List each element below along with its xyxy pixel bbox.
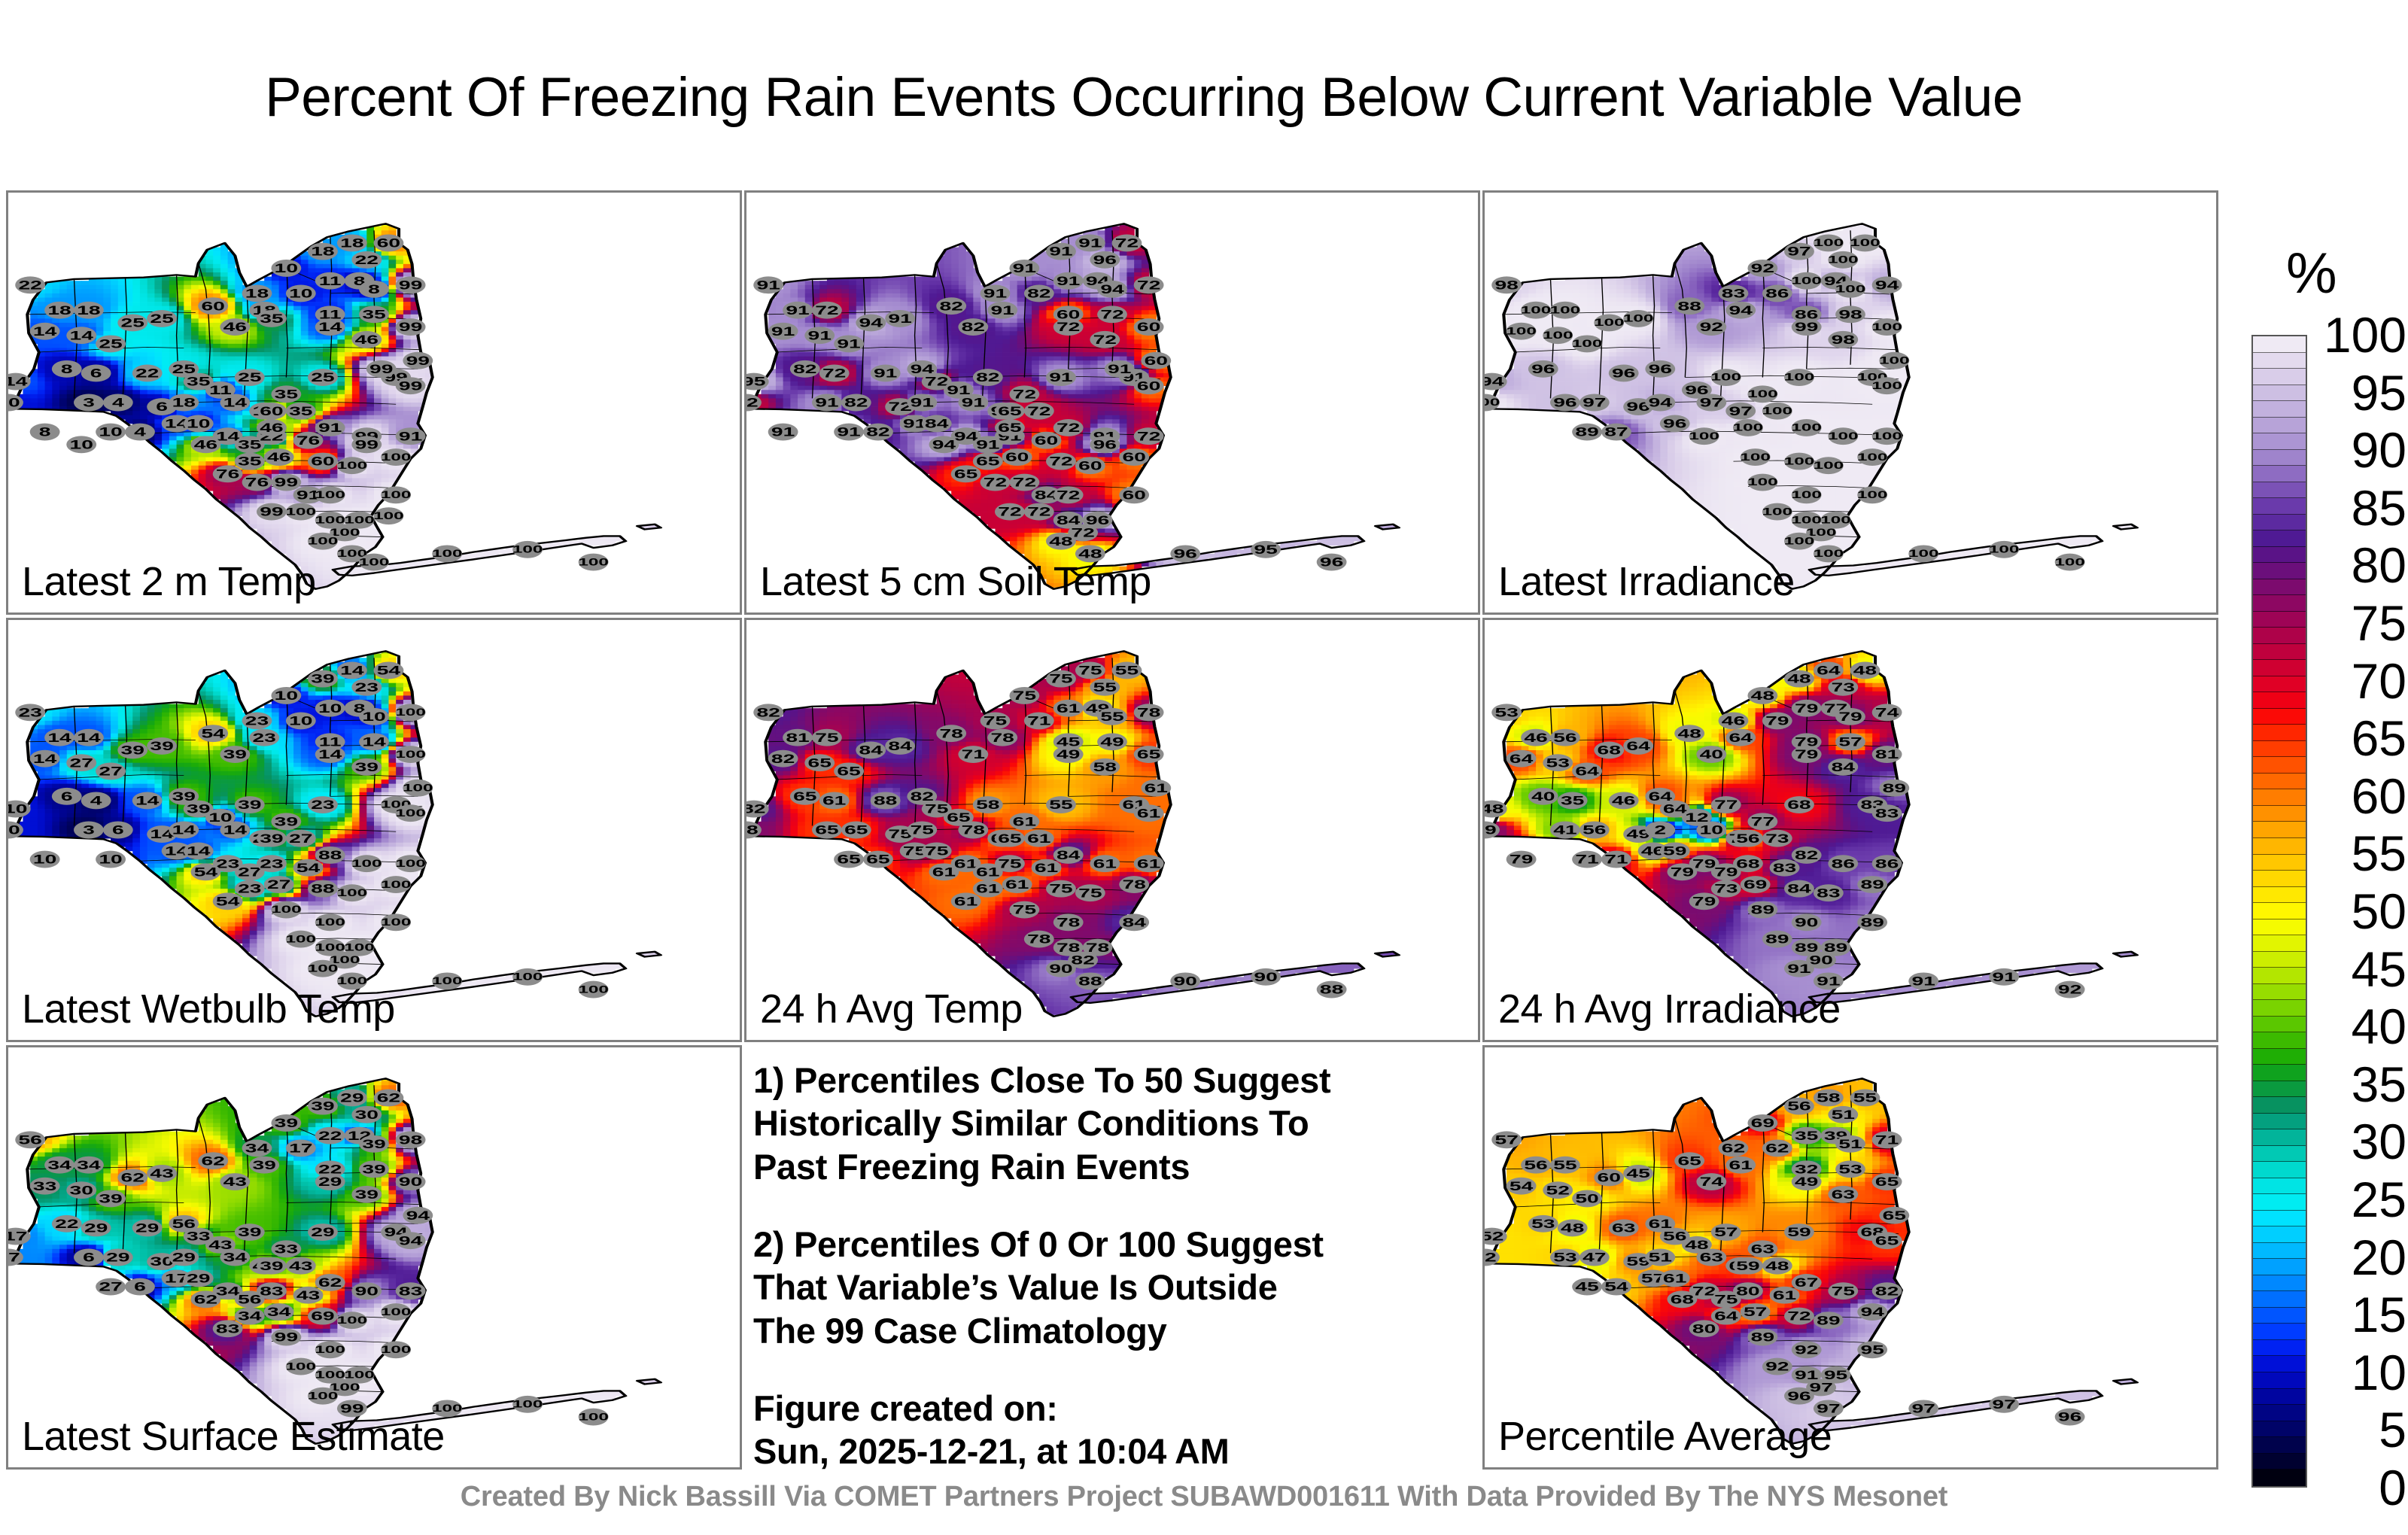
station-marker[interactable]: 64 [1572, 762, 1602, 780]
station-marker[interactable]: 97 [1989, 1396, 2019, 1413]
station-marker[interactable]: 39 [359, 1160, 389, 1178]
station-marker[interactable]: 100 [308, 533, 339, 550]
station-marker[interactable]: 69 [308, 1308, 338, 1325]
station-marker[interactable]: 48 [1485, 801, 1507, 818]
station-marker[interactable]: 90 [1046, 960, 1076, 977]
station-marker[interactable]: 96 [1550, 394, 1580, 412]
station-marker[interactable]: 96 [1609, 365, 1639, 382]
station-marker[interactable]: 91 [1075, 235, 1105, 252]
station-marker[interactable]: 75 [995, 855, 1025, 872]
station-marker[interactable]: 91 [768, 323, 798, 340]
station-marker[interactable]: 100 [1857, 448, 1888, 466]
station-marker[interactable]: 100 [1747, 385, 1778, 403]
station-marker[interactable]: 72 [1024, 403, 1054, 420]
station-marker[interactable]: 61 [1660, 1269, 1690, 1287]
station-marker[interactable]: 88 [315, 847, 345, 864]
station-marker[interactable]: 14 [315, 746, 345, 763]
station-marker[interactable]: 89 [1572, 424, 1602, 441]
station-marker[interactable]: 71 [958, 746, 988, 763]
station-marker[interactable]: 91 [987, 302, 1017, 319]
station-marker[interactable]: 54 [1601, 1278, 1631, 1296]
station-marker[interactable]: 78 [958, 822, 988, 839]
station-marker[interactable]: 10 [96, 851, 126, 868]
station-marker[interactable]: 56 [1550, 729, 1580, 746]
station-marker[interactable]: 100 [381, 913, 412, 931]
station-marker[interactable]: 61 [1134, 804, 1164, 822]
station-marker[interactable]: 55 [1090, 679, 1120, 696]
map-panel-percentile-average[interactable]: 5756555452506045534852525347455459636156… [1482, 1045, 2218, 1470]
station-marker[interactable]: 79 [1689, 892, 1719, 910]
station-marker[interactable]: 100 [1594, 315, 1625, 332]
station-marker[interactable]: 76 [242, 474, 272, 491]
station-marker[interactable]: 86 [1762, 284, 1792, 302]
station-marker[interactable]: 14 [220, 394, 250, 412]
station-marker[interactable]: 10 [66, 436, 96, 453]
station-marker[interactable]: 82 [863, 424, 893, 441]
station-marker[interactable]: 18 [44, 302, 74, 319]
station-marker[interactable]: 62 [191, 1290, 221, 1308]
station-marker[interactable]: 49 [1097, 733, 1127, 750]
station-marker[interactable]: 89 [1857, 913, 1887, 931]
station-marker[interactable]: 100 [2054, 554, 2085, 571]
station-marker[interactable]: 35 [359, 305, 389, 323]
station-marker[interactable]: 91 [1908, 972, 1938, 989]
station-marker[interactable]: 75 [1075, 884, 1105, 901]
station-marker[interactable]: 100 [578, 1409, 609, 1426]
station-marker[interactable]: 10 [96, 424, 126, 441]
station-marker[interactable]: 56 [15, 1131, 45, 1148]
station-marker[interactable]: 72 [1053, 486, 1084, 503]
station-marker[interactable]: 89 [1747, 901, 1777, 919]
station-marker[interactable]: 82 [841, 394, 871, 412]
station-marker[interactable]: 45 [1623, 1165, 1653, 1182]
station-marker[interactable]: 61 [819, 792, 850, 810]
station-marker[interactable]: 68 [1784, 796, 1814, 813]
station-marker[interactable]: 60 [198, 297, 228, 315]
station-marker[interactable]: 56 [1784, 1098, 1814, 1115]
station-marker[interactable]: 75 [981, 712, 1011, 729]
station-marker[interactable]: 98 [396, 1131, 426, 1148]
station-marker[interactable]: 23 [249, 729, 279, 746]
station-marker[interactable]: 39 [257, 830, 287, 847]
station-marker[interactable]: 46 [1719, 712, 1749, 729]
station-marker[interactable]: 61 [1002, 876, 1032, 893]
station-marker[interactable]: 10 [271, 687, 301, 704]
station-marker[interactable]: 78 [1024, 931, 1054, 948]
station-marker[interactable]: 29 [169, 1249, 199, 1266]
station-marker[interactable]: 65 [804, 754, 835, 771]
station-marker[interactable]: 100 [1747, 474, 1778, 491]
station-marker[interactable]: 47 [1579, 1249, 1610, 1266]
station-marker[interactable]: 46 [351, 331, 382, 348]
station-marker[interactable]: 25 [147, 310, 177, 327]
station-marker[interactable]: 39 [235, 1223, 265, 1241]
station-marker[interactable]: 63 [1696, 1249, 1726, 1266]
station-marker[interactable]: 100 [1828, 427, 1859, 445]
station-marker[interactable]: 100 [1814, 457, 1844, 474]
station-marker[interactable]: 30 [351, 1106, 382, 1123]
station-marker[interactable]: 49 [1792, 1173, 1822, 1190]
station-marker[interactable]: 89 [1857, 876, 1887, 893]
station-marker[interactable]: 8 [359, 281, 389, 298]
station-marker[interactable]: 99 [396, 377, 426, 394]
station-marker[interactable]: 14 [359, 733, 389, 750]
station-marker[interactable]: 34 [74, 1157, 104, 1174]
station-marker[interactable]: 100 [1689, 427, 1719, 445]
station-marker[interactable]: 94 [1725, 302, 1756, 319]
station-marker[interactable]: 75 [907, 822, 937, 839]
station-marker[interactable]: 91 [396, 427, 426, 445]
station-marker[interactable]: 75 [1009, 687, 1039, 704]
station-marker[interactable]: 76 [213, 465, 243, 482]
station-marker[interactable]: 82 [958, 318, 988, 336]
station-marker[interactable]: 35 [1792, 1127, 1822, 1144]
station-marker[interactable]: 82 [1792, 847, 1822, 864]
station-marker[interactable]: 78 [987, 729, 1017, 746]
station-marker[interactable]: 92 [2055, 981, 2085, 999]
station-marker[interactable]: 77 [1711, 796, 1741, 813]
station-marker[interactable]: 14 [337, 662, 367, 679]
station-marker[interactable]: 58 [1090, 758, 1120, 776]
station-marker[interactable]: 18 [337, 235, 367, 252]
station-marker[interactable]: 99 [1792, 318, 1822, 336]
station-marker[interactable]: 55 [1097, 708, 1127, 725]
map-panel-latest-5cm-soil-temp[interactable]: 9191729191919491827295729182918291729194… [744, 190, 1480, 615]
station-marker[interactable]: 72 [981, 474, 1011, 491]
station-marker[interactable]: 34 [264, 1303, 294, 1321]
station-marker[interactable]: 22 [315, 1127, 345, 1144]
station-marker[interactable]: 99 [351, 436, 382, 453]
station-marker[interactable]: 65 [863, 851, 893, 868]
station-marker[interactable]: 10 [315, 700, 345, 717]
station-marker[interactable]: 86 [1828, 855, 1858, 872]
station-marker[interactable]: 79 [1762, 712, 1792, 729]
station-marker[interactable]: 65 [790, 788, 820, 805]
station-marker[interactable]: 91 [768, 424, 798, 441]
station-marker[interactable]: 46 [1609, 792, 1639, 810]
station-marker[interactable]: 96 [2055, 1409, 2085, 1426]
station-marker[interactable]: 40 [1528, 788, 1558, 805]
station-marker[interactable]: 61 [1053, 700, 1084, 717]
station-marker[interactable]: 10 [286, 712, 316, 729]
station-marker[interactable]: 68 [1733, 855, 1763, 872]
station-marker[interactable]: 83 [396, 1282, 426, 1299]
station-marker[interactable]: 72 [1112, 235, 1142, 252]
station-marker[interactable]: 59 [1660, 842, 1690, 859]
station-marker[interactable]: 91 [981, 284, 1011, 302]
station-marker[interactable]: 99 [271, 1329, 301, 1346]
station-marker[interactable]: 97 [1579, 394, 1610, 412]
station-marker[interactable]: 25 [96, 335, 126, 352]
station-marker[interactable]: 75 [922, 842, 952, 859]
station-marker[interactable]: 75 [1046, 880, 1076, 898]
station-marker[interactable]: 83 [257, 1282, 287, 1299]
station-marker[interactable]: 3 [74, 394, 104, 412]
station-marker[interactable]: 35 [1558, 792, 1588, 810]
station-marker[interactable]: 61 [1090, 855, 1120, 872]
station-marker[interactable]: 8 [52, 360, 82, 378]
station-marker[interactable]: 71 [1872, 1131, 1902, 1148]
station-marker[interactable]: 100 [337, 457, 368, 474]
station-marker[interactable]: 51 [1835, 1135, 1865, 1153]
station-marker[interactable]: 88 [1075, 972, 1105, 989]
station-marker[interactable]: 100 [308, 960, 339, 977]
station-marker[interactable]: 94 [1872, 276, 1902, 293]
station-marker[interactable]: 91 [907, 394, 937, 412]
station-marker[interactable]: 98 [1828, 331, 1858, 348]
station-marker[interactable]: 14 [184, 842, 214, 859]
station-marker[interactable]: 91 [804, 327, 835, 344]
station-marker[interactable]: 60 [1134, 318, 1164, 336]
station-marker[interactable]: 84 [885, 737, 915, 755]
station-marker[interactable]: 75 [1046, 670, 1076, 688]
station-marker[interactable]: 80 [1733, 1282, 1763, 1299]
station-marker[interactable]: 57 [1711, 1223, 1741, 1241]
station-marker[interactable]: 100 [1572, 335, 1603, 352]
station-marker[interactable]: 72 [995, 503, 1025, 521]
station-marker[interactable]: 25 [117, 315, 147, 332]
station-marker[interactable]: 48 [1850, 662, 1880, 679]
station-marker[interactable]: 100 [1550, 302, 1581, 319]
station-marker[interactable]: 100 [512, 541, 543, 558]
station-marker[interactable]: 14 [74, 729, 104, 746]
station-marker[interactable]: 56 [1579, 822, 1610, 839]
station-marker[interactable]: 84 [1828, 758, 1858, 776]
station-marker[interactable]: 82 [973, 369, 1003, 386]
station-marker[interactable]: 79 [1792, 700, 1822, 717]
station-marker[interactable]: 68 [1668, 1290, 1698, 1308]
station-marker[interactable]: 48 [1784, 670, 1814, 688]
station-marker[interactable]: 71 [1024, 712, 1054, 729]
station-marker[interactable]: 100 [395, 855, 426, 872]
station-marker[interactable]: 48 [1674, 725, 1704, 742]
station-marker[interactable]: 100 [381, 876, 412, 893]
station-marker[interactable]: 48 [1558, 1220, 1588, 1237]
station-marker[interactable]: 78 [1134, 704, 1164, 721]
station-marker[interactable]: 72 [1134, 427, 1164, 445]
station-marker[interactable]: 41 [1550, 822, 1580, 839]
station-marker[interactable]: 100 [1784, 369, 1815, 386]
station-marker[interactable]: 72 [1046, 453, 1076, 470]
station-marker[interactable]: 91 [1105, 360, 1135, 378]
station-marker[interactable]: 71 [1572, 851, 1602, 868]
station-marker[interactable]: 82 [1024, 284, 1054, 302]
station-marker[interactable]: 48 [1747, 687, 1777, 704]
station-marker[interactable]: 4 [125, 424, 155, 441]
station-marker[interactable]: 34 [242, 1139, 272, 1157]
station-marker[interactable]: 40 [1696, 746, 1726, 763]
station-marker[interactable]: 60 [1141, 352, 1171, 369]
station-marker[interactable]: 46 [1521, 729, 1551, 746]
station-marker[interactable]: 86 [1872, 855, 1902, 872]
station-marker[interactable]: 27 [66, 754, 96, 771]
station-marker[interactable]: 22 [52, 1215, 82, 1233]
station-marker[interactable]: 100 [1506, 323, 1537, 340]
station-marker[interactable]: 65 [841, 822, 871, 839]
station-marker[interactable]: 14 [220, 822, 250, 839]
station-marker[interactable]: 17 [8, 1228, 31, 1245]
station-marker[interactable]: 35 [286, 403, 316, 420]
station-marker[interactable]: 10 [30, 851, 60, 868]
station-marker[interactable]: 95 [1251, 541, 1281, 558]
station-marker[interactable]: 72 [1134, 276, 1164, 293]
station-marker[interactable]: 72 [812, 302, 842, 319]
station-marker[interactable]: 73 [1828, 679, 1858, 696]
station-marker[interactable]: 100 [1879, 352, 1910, 369]
station-marker[interactable]: 10 [359, 708, 389, 725]
station-marker[interactable]: 100 [1733, 419, 1764, 436]
station-marker[interactable]: 29 [132, 1220, 163, 1237]
station-marker[interactable]: 39 [235, 796, 265, 813]
station-marker[interactable]: 10 [1696, 822, 1726, 839]
station-marker[interactable]: 89 [1879, 780, 1909, 797]
station-marker[interactable]: 100 [315, 1341, 345, 1358]
station-marker[interactable]: 94 [396, 1232, 426, 1249]
station-marker[interactable]: 61 [1009, 813, 1039, 830]
station-marker[interactable]: 100 [1814, 235, 1844, 252]
station-marker[interactable]: 54 [198, 725, 228, 742]
station-marker[interactable]: 18 [242, 284, 272, 302]
station-marker[interactable]: 100 [1989, 541, 2020, 558]
station-marker[interactable]: 35 [257, 310, 287, 327]
station-marker[interactable]: 27 [264, 876, 294, 893]
station-marker[interactable]: 53 [1835, 1160, 1865, 1178]
station-marker[interactable]: 95 [1857, 1341, 1887, 1358]
station-marker[interactable]: 43 [147, 1165, 177, 1182]
station-marker[interactable]: 100 [286, 931, 317, 948]
station-marker[interactable]: 54 [191, 863, 221, 880]
station-marker[interactable]: 6 [74, 1249, 104, 1266]
station-marker[interactable]: 88 [1317, 981, 1347, 999]
station-marker[interactable]: 91 [834, 424, 864, 441]
station-marker[interactable]: 89 [1747, 1329, 1777, 1346]
station-marker[interactable]: 100 [308, 1388, 339, 1405]
station-marker[interactable]: 57 [1835, 733, 1865, 750]
station-marker[interactable]: 6 [52, 788, 82, 805]
station-marker[interactable]: 100 [381, 1303, 412, 1321]
station-marker[interactable]: 100 [512, 1396, 543, 1413]
station-marker[interactable]: 91 [1053, 272, 1084, 290]
station-marker[interactable]: 25 [235, 369, 265, 386]
station-marker[interactable]: 39 [351, 758, 382, 776]
station-marker[interactable]: 14 [30, 750, 60, 767]
station-marker[interactable]: 72 [1784, 1308, 1814, 1325]
station-marker[interactable]: 100 [1791, 486, 1822, 503]
station-marker[interactable]: 65 [951, 465, 981, 482]
station-marker[interactable]: 100 [286, 1358, 317, 1375]
station-marker[interactable]: 99 [403, 352, 433, 369]
station-marker[interactable]: 100 [1521, 302, 1552, 319]
station-marker[interactable]: 92 [1792, 1341, 1822, 1358]
station-marker[interactable]: 98 [1491, 276, 1522, 293]
station-marker[interactable]: 100 [578, 554, 609, 571]
station-marker[interactable]: 97 [1784, 243, 1814, 260]
station-marker[interactable]: 96 [1660, 415, 1690, 432]
station-marker[interactable]: 17 [286, 1139, 316, 1157]
station-marker[interactable]: 99 [257, 503, 287, 521]
station-marker[interactable]: 46 [220, 318, 250, 336]
station-marker[interactable]: 33 [30, 1178, 60, 1195]
station-marker[interactable]: 91 [1046, 369, 1076, 386]
station-marker[interactable]: 10 [271, 260, 301, 277]
station-marker[interactable]: 61 [951, 892, 981, 910]
station-marker[interactable]: 59 [1784, 1223, 1814, 1241]
station-marker[interactable]: 54 [1507, 1178, 1537, 1195]
station-marker[interactable]: 60 [374, 235, 404, 252]
station-marker[interactable]: 100 [337, 884, 368, 901]
station-marker[interactable]: 65 [995, 830, 1025, 847]
station-marker[interactable]: 82 [1872, 1282, 1902, 1299]
station-marker[interactable]: 100 [1828, 251, 1859, 269]
station-marker[interactable]: 39 [271, 813, 301, 830]
station-marker[interactable]: 91 [1046, 243, 1076, 260]
station-marker[interactable]: 100 [373, 507, 404, 524]
station-marker[interactable]: 56 [1521, 1157, 1551, 1174]
station-marker[interactable]: 35 [271, 385, 301, 403]
station-marker[interactable]: 53 [1491, 704, 1522, 721]
station-marker[interactable]: 78 [1119, 876, 1149, 893]
station-marker[interactable]: 67 [1792, 1274, 1822, 1291]
station-marker[interactable]: 84 [1784, 880, 1814, 898]
station-marker[interactable]: 100 [1711, 369, 1742, 386]
station-marker[interactable]: 43 [286, 1257, 316, 1275]
station-marker[interactable]: 100 [315, 486, 345, 503]
station-marker[interactable]: 64 [1623, 737, 1653, 755]
station-marker[interactable]: 14 [30, 323, 60, 340]
station-marker[interactable]: 30 [66, 1181, 96, 1199]
station-marker[interactable]: 94 [1645, 394, 1675, 412]
station-marker[interactable]: 100 [315, 913, 345, 931]
station-marker[interactable]: 73 [1762, 830, 1792, 847]
station-marker[interactable]: 91 [1989, 968, 2019, 986]
station-marker[interactable]: 79 [1792, 746, 1822, 763]
station-marker[interactable]: 78 [936, 725, 966, 742]
station-marker[interactable]: 97 [1696, 394, 1726, 412]
station-marker[interactable]: 75 [1075, 662, 1105, 679]
station-marker[interactable]: 65 [834, 762, 864, 780]
station-marker[interactable]: 100 [395, 704, 426, 721]
station-marker[interactable]: 29 [337, 1090, 367, 1107]
station-marker[interactable]: 100 [512, 968, 543, 986]
station-marker[interactable]: 87 [1601, 424, 1631, 441]
station-marker[interactable]: 18 [169, 394, 199, 412]
station-marker[interactable]: 91 [958, 394, 988, 412]
station-marker[interactable]: 53 [1528, 1215, 1558, 1233]
station-marker[interactable]: 60 [308, 453, 338, 470]
station-marker[interactable]: 45 [1572, 1278, 1602, 1296]
station-marker[interactable]: 100 [1623, 310, 1654, 327]
station-marker[interactable]: 100 [1835, 281, 1866, 298]
station-marker[interactable]: 91 [753, 276, 783, 293]
station-marker[interactable]: 4 [103, 394, 133, 412]
station-marker[interactable]: 23 [308, 796, 338, 813]
station-marker[interactable]: 91 [885, 310, 915, 327]
station-marker[interactable]: 81 [1872, 746, 1902, 763]
station-marker[interactable]: 58 [973, 796, 1003, 813]
station-marker[interactable]: 64 [1507, 750, 1537, 767]
station-marker[interactable]: 100 [337, 1312, 368, 1329]
station-marker[interactable]: 82 [936, 297, 966, 315]
station-marker[interactable]: 82 [790, 360, 820, 378]
station-marker[interactable]: 51 [1645, 1249, 1675, 1266]
station-marker[interactable]: 39 [257, 1257, 287, 1275]
station-marker[interactable]: 89 [1814, 1312, 1844, 1329]
station-marker[interactable]: 65 [834, 851, 864, 868]
station-marker[interactable]: 65 [1872, 1173, 1902, 1190]
station-marker[interactable]: 100 [381, 448, 412, 466]
station-marker[interactable]: 57 [1741, 1303, 1771, 1321]
station-marker[interactable]: 100 [359, 554, 390, 571]
